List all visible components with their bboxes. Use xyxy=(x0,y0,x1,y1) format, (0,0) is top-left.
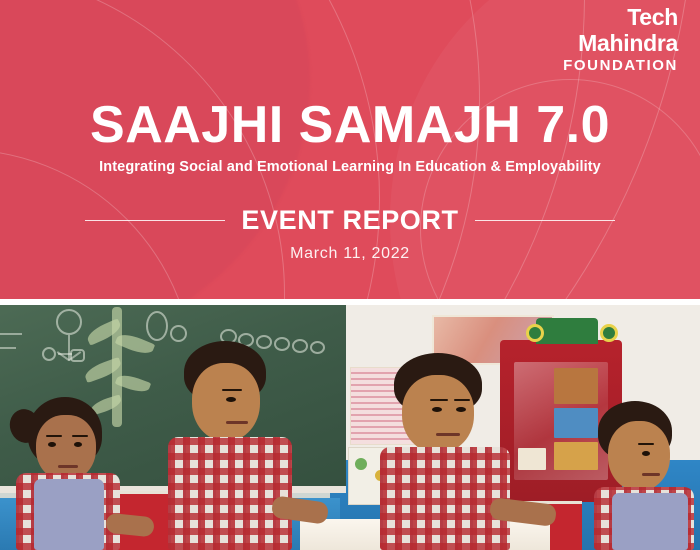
child-4 xyxy=(594,401,700,550)
chalk-connector xyxy=(58,353,72,355)
child-3 xyxy=(380,353,540,550)
chalk-letter-c xyxy=(146,311,168,341)
child-4-mouth xyxy=(642,473,660,476)
event-date: March 11, 2022 xyxy=(0,245,700,263)
red-banner: Tech Mahindra FOUNDATION SAAJHI SAMAJH 7… xyxy=(0,0,700,299)
child-2 xyxy=(168,341,318,550)
child-4-pinafore xyxy=(612,493,688,550)
child-1-pinafore xyxy=(34,479,104,550)
child-3-face xyxy=(402,375,474,453)
page-title: SAAJHI SAMAJH 7.0 xyxy=(0,99,700,151)
child-3-eye-right xyxy=(456,407,466,412)
child-4-face xyxy=(608,421,670,491)
classroom-photo xyxy=(0,305,700,550)
chalk-circle-1 xyxy=(42,347,56,361)
event-report-row: EVENT REPORT xyxy=(0,205,700,236)
child-1-brow-left xyxy=(46,435,62,437)
organizer-card-1 xyxy=(554,368,598,404)
event-report-label: EVENT REPORT xyxy=(241,205,458,236)
chalk-mark-2 xyxy=(0,347,16,349)
logo-line-foundation: FOUNDATION xyxy=(563,58,678,73)
child-2-eye xyxy=(226,397,236,402)
child-1-mouth xyxy=(58,465,78,468)
child-3-mouth xyxy=(436,433,460,436)
divider-left xyxy=(85,220,225,221)
logo-line-mahindra: Mahindra xyxy=(563,32,678,55)
logo-line-tech: Tech xyxy=(563,6,678,29)
tech-mahindra-foundation-logo: Tech Mahindra FOUNDATION xyxy=(563,6,678,73)
child-2-brow xyxy=(222,389,242,391)
child-2-uniform xyxy=(168,437,292,550)
event-report-cover: Tech Mahindra FOUNDATION SAAJHI SAMAJH 7… xyxy=(0,0,700,550)
child-4-brow xyxy=(638,443,654,445)
organizer-card-2 xyxy=(554,408,598,438)
chalk-square-1 xyxy=(70,349,85,362)
chalk-letter-o xyxy=(170,325,187,342)
organizer-card-3 xyxy=(554,442,598,470)
child-1-eye-left xyxy=(48,442,56,447)
child-1-brow-right xyxy=(72,435,88,437)
child-3-uniform xyxy=(380,447,510,550)
child-2-face xyxy=(192,363,260,441)
child-1-eye-right xyxy=(74,442,82,447)
child-2-mouth xyxy=(226,421,248,424)
child-3-brow-right xyxy=(454,399,470,401)
child-3-eye-left xyxy=(432,407,442,412)
organizer-decor-right xyxy=(600,324,618,342)
child-1-face xyxy=(36,415,96,481)
chalk-doodle-head xyxy=(56,309,82,335)
organizer-hanger xyxy=(536,318,598,344)
organizer-decor-left xyxy=(526,324,544,342)
chalk-mark-1 xyxy=(0,333,22,335)
divider-right xyxy=(475,220,615,221)
child-1 xyxy=(10,397,140,550)
child-3-brow-left xyxy=(430,399,448,401)
poster-blob-1 xyxy=(355,458,367,470)
page-subtitle: Integrating Social and Emotional Learnin… xyxy=(0,159,700,175)
child-4-eye xyxy=(642,451,650,456)
